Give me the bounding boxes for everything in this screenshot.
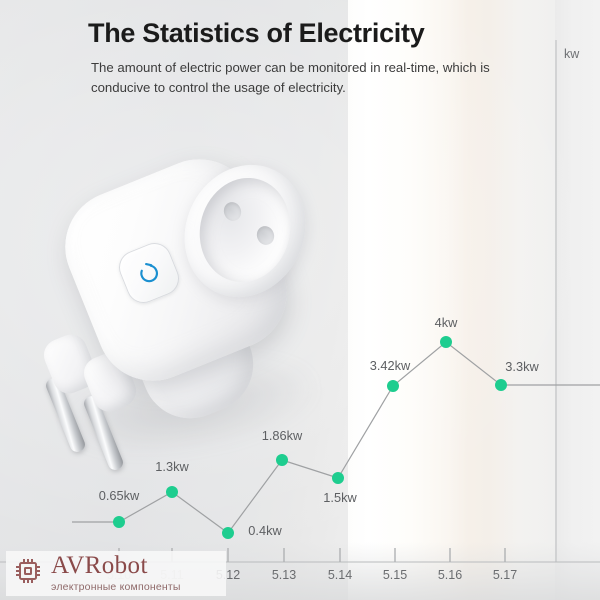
x-axis-tick-label: 5.13 — [272, 568, 296, 582]
x-axis-tick-label: 5.14 — [328, 568, 352, 582]
data-point[interactable] — [166, 486, 178, 498]
data-point[interactable] — [387, 380, 399, 392]
data-point-label: 3.42kw — [370, 358, 411, 373]
data-point[interactable] — [495, 379, 507, 391]
chart-axes: kw — [0, 40, 600, 562]
y-axis-unit-label: kw — [564, 47, 580, 61]
data-point-label: 0.4kw — [248, 523, 282, 538]
electricity-line-chart: kw 5.105.115.125.135.145.155.165.17 0.65… — [0, 0, 600, 600]
watermark-brand: AVRobot — [51, 552, 148, 579]
data-point-label: 4kw — [435, 315, 459, 330]
data-point-value-labels: 0.65kw1.3kw0.4kw1.86kw1.5kw3.42kw4kw3.3k… — [99, 315, 540, 538]
watermark-tagline: электронные компоненты — [51, 581, 181, 593]
x-axis-tick-label: 5.17 — [493, 568, 517, 582]
x-axis-tick-label: 5.16 — [438, 568, 462, 582]
data-point[interactable] — [332, 472, 344, 484]
x-axis-tick-label: 5.15 — [383, 568, 407, 582]
watermark-text: AVRobot электронные компоненты — [51, 553, 181, 594]
series-line-path — [119, 342, 501, 533]
data-point-label: 1.86kw — [262, 428, 303, 443]
data-point-label: 1.5kw — [323, 490, 357, 505]
data-point-label: 0.65kw — [99, 488, 140, 503]
data-point-markers[interactable] — [113, 336, 507, 539]
data-point[interactable] — [276, 454, 288, 466]
watermark: AVRobot электронные компоненты — [6, 551, 226, 596]
data-point-label: 1.3kw — [155, 459, 189, 474]
data-point-label: 3.3kw — [505, 359, 539, 374]
data-point[interactable] — [222, 527, 234, 539]
data-point[interactable] — [113, 516, 125, 528]
screenshot-root: The Statistics of Electricity The amount… — [0, 0, 600, 600]
microchip-icon — [12, 555, 44, 592]
data-point[interactable] — [440, 336, 452, 348]
